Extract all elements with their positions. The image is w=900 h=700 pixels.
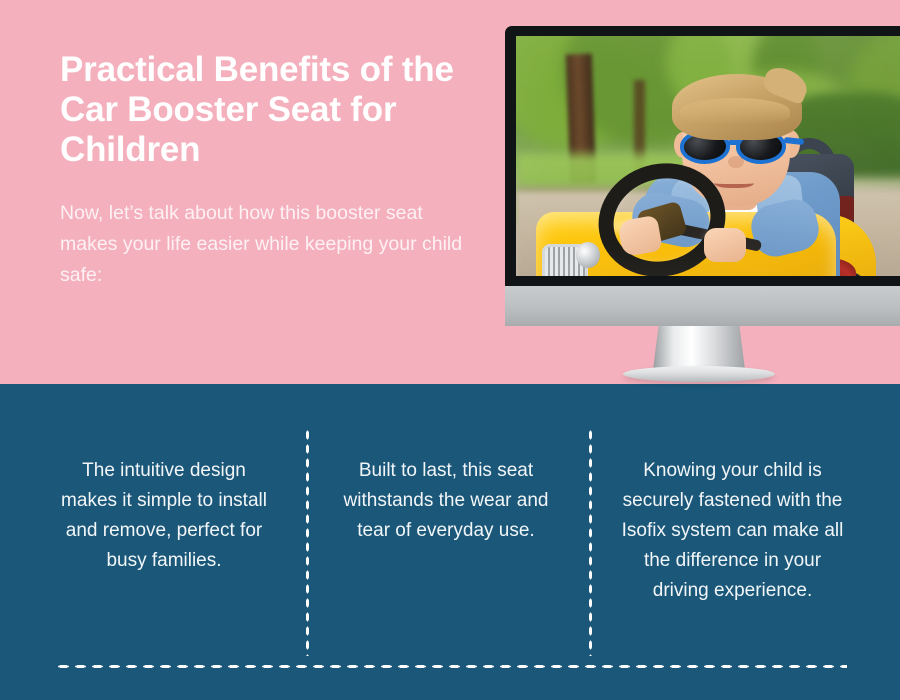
- toy-car-headlamp: [576, 242, 600, 268]
- dotted-divider-horizontal: [55, 664, 847, 669]
- dotted-divider-vertical-1: [305, 428, 310, 656]
- child-hand: [617, 215, 663, 257]
- benefit-item-1: The intuitive design makes it simple to …: [55, 456, 273, 576]
- infographic-canvas: Practical Benefits of the Car Booster Se…: [0, 0, 900, 700]
- smile: [714, 176, 754, 188]
- child-hair-fringe: [680, 98, 790, 124]
- monitor-stand-base: [623, 366, 775, 382]
- monitor-graphic: [505, 26, 900, 326]
- benefit-item-2: Built to last, this seat withstands the …: [337, 456, 555, 546]
- sunglass-temple: [784, 137, 805, 145]
- child-hand: [704, 228, 746, 262]
- monitor-bezel: [505, 26, 900, 286]
- page-subtitle: Now, let’s talk about how this booster s…: [60, 198, 470, 292]
- dotted-divider-vertical-2: [588, 428, 593, 656]
- monitor-stand-neck: [653, 326, 745, 370]
- monitor-screen: [516, 36, 900, 276]
- benefit-item-3: Knowing your child is securely fastened …: [620, 456, 845, 606]
- header-block: Practical Benefits of the Car Booster Se…: [60, 50, 480, 291]
- monitor-chin: [505, 286, 900, 326]
- sunglass-bridge: [728, 140, 740, 145]
- boy-in-toy-car-photo: [516, 36, 900, 276]
- page-title: Practical Benefits of the Car Booster Se…: [60, 50, 480, 170]
